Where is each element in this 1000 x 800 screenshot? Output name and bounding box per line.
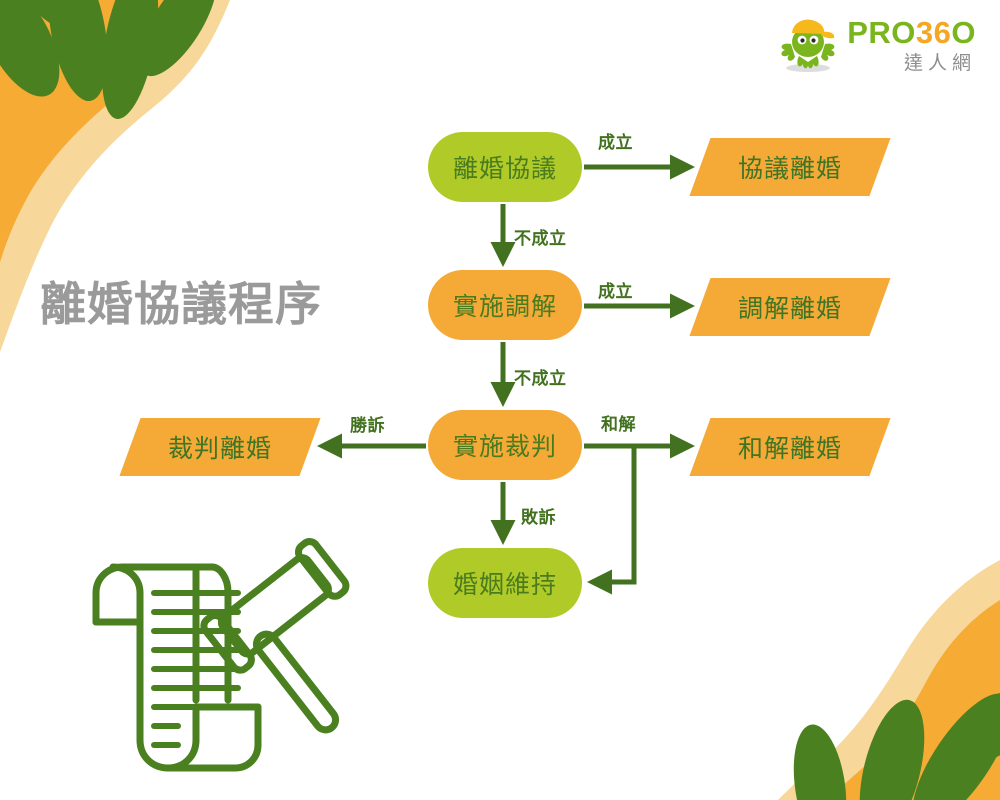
node-marriage-maintained[interactable]: 婚姻維持 [428,548,582,618]
node-label: 實施調解 [453,287,557,323]
node-conduct-judgment[interactable]: 實施裁判 [428,410,582,480]
edge-label-mediation-fail: 不成立 [514,364,567,389]
edge-label-mediation-succeed: 成立 [598,277,633,302]
logo-o-text: O [951,15,976,50]
logo-pro-text: PRO [847,15,916,50]
edge-label-judgment-lose: 敗訴 [521,503,556,528]
edge-label-agreement-succeed: 成立 [598,128,633,153]
logo-36-text: 36 [916,15,951,50]
node-conduct-mediation[interactable]: 實施調解 [428,270,582,340]
node-divorce-agreement[interactable]: 離婚協議 [428,132,582,202]
infographic-canvas: 離婚協議 實施調解 實施裁判 婚姻維持 協議離婚 調解離婚 裁判離婚 和解離婚 … [0,0,1000,800]
terminal-settled-divorce[interactable]: 和解離婚 [689,418,890,476]
edge-label-agreement-fail: 不成立 [514,224,567,249]
terminal-judicial-divorce[interactable]: 裁判離婚 [119,418,320,476]
terminal-label: 協議離婚 [738,149,842,185]
logo-sub-text: 達人網 [899,54,976,73]
logo-wordmark: PRO36O 達人網 [847,17,976,73]
octopus-mascot-icon [777,14,839,76]
node-label: 離婚協議 [453,149,557,185]
brand-logo[interactable]: PRO36O 達人網 [777,14,976,76]
terminal-label: 和解離婚 [738,429,842,465]
terminal-agreed-divorce[interactable]: 協議離婚 [689,138,890,196]
edge-label-judgment-settle: 和解 [601,410,636,435]
page-title: 離婚協議程序 [40,268,322,334]
node-label: 實施裁判 [453,427,557,463]
edge-label-judgment-win: 勝訴 [350,411,385,436]
node-label: 婚姻維持 [453,565,557,601]
terminal-label: 裁判離婚 [168,429,272,465]
flow-nodes: 離婚協議 實施調解 實施裁判 婚姻維持 協議離婚 調解離婚 裁判離婚 和解離婚 [0,0,1000,800]
terminal-label: 調解離婚 [738,289,842,325]
logo-main-text: PRO36O [847,17,976,48]
terminal-mediated-divorce[interactable]: 調解離婚 [689,278,890,336]
